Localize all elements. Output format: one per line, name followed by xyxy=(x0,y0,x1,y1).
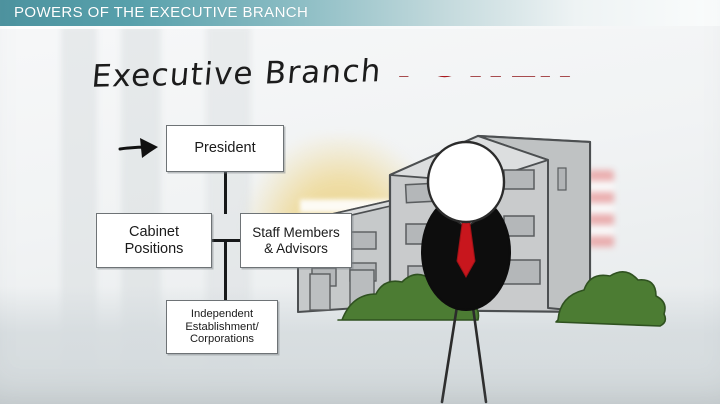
page-title: POWERS OF THE EXECUTIVE BRANCH xyxy=(14,4,308,21)
independent-line-1: Independent xyxy=(191,308,253,320)
org-node-cabinet-positions[interactable]: Cabinet Positions xyxy=(96,213,212,268)
right-arrow-icon xyxy=(118,136,164,160)
connector-president-to-row xyxy=(224,172,227,214)
slide-canvas: POWER Executive Branch President Cabinet… xyxy=(0,0,720,404)
illustration-scene xyxy=(290,120,720,404)
org-node-cabinet-label: Cabinet Positions xyxy=(125,224,184,258)
title-bar-underline xyxy=(0,26,720,29)
connector-row-to-independent xyxy=(224,241,227,301)
independent-line-3: Corporations xyxy=(190,333,254,345)
staff-line-1: Staff Members xyxy=(252,225,340,240)
cabinet-line-2: Positions xyxy=(125,241,184,257)
cabinet-line-1: Cabinet xyxy=(129,224,179,240)
power-text: POWER xyxy=(396,76,570,86)
staff-line-2: & Advisors xyxy=(264,241,328,256)
org-node-independent-label: Independent Establishment/ Corporations xyxy=(185,308,258,347)
org-node-president[interactable]: President xyxy=(166,125,284,172)
scene-svg xyxy=(290,120,720,404)
president-stick-figure xyxy=(422,142,510,402)
title-bar: POWERS OF THE EXECUTIVE BRANCH xyxy=(0,0,720,26)
org-node-staff-members[interactable]: Staff Members & Advisors xyxy=(240,213,352,268)
independent-line-2: Establishment/ xyxy=(185,321,258,333)
power-word-art: POWER xyxy=(396,76,588,138)
org-node-independent-establishment[interactable]: Independent Establishment/ Corporations xyxy=(166,300,278,354)
org-node-president-label: President xyxy=(194,140,255,157)
handwritten-title: Executive Branch xyxy=(90,53,383,95)
org-node-staff-label: Staff Members & Advisors xyxy=(252,225,340,256)
